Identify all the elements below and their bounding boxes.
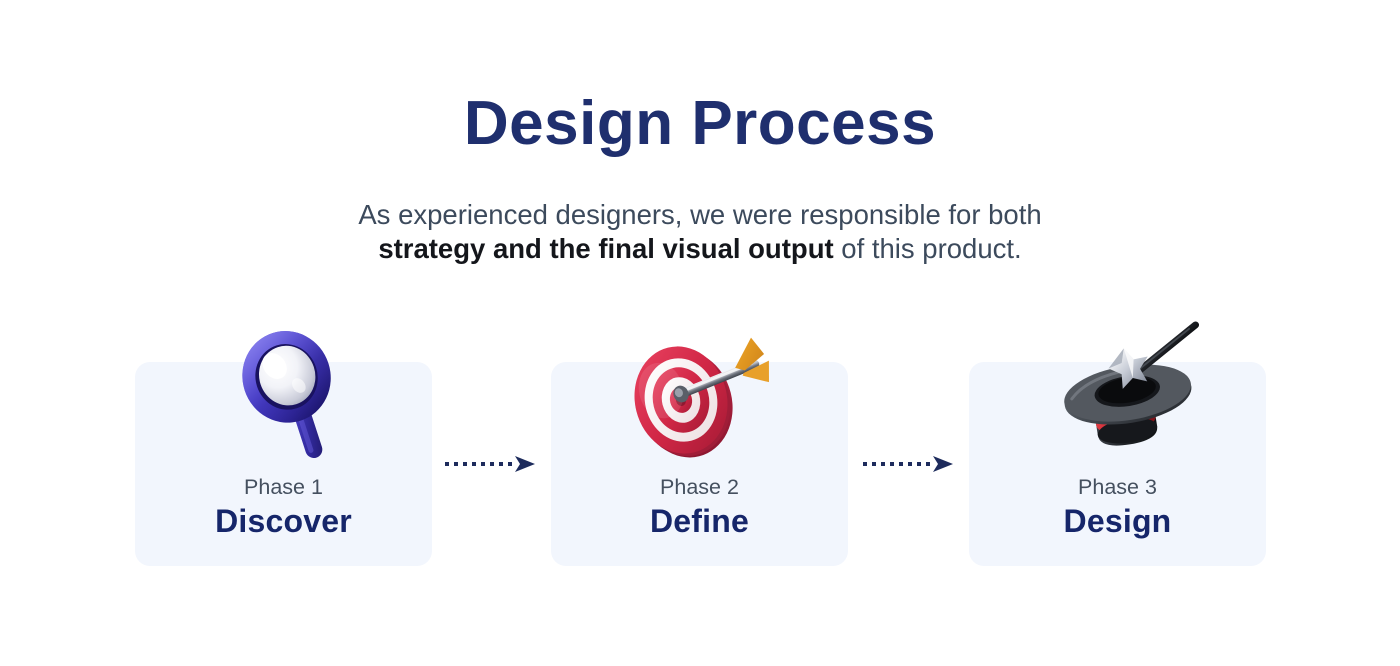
arrow-phase1-to-phase2 <box>444 455 536 473</box>
phase-card-design[interactable]: Phase 3 Design <box>969 362 1266 566</box>
phase-cards-row: Phase 1 Discover <box>135 362 1267 566</box>
phase-card-discover[interactable]: Phase 1 Discover <box>135 362 432 566</box>
phase-label: Phase 2 <box>551 473 848 501</box>
subtitle: As experienced designers, we were respon… <box>0 198 1400 266</box>
top-hat-magic-wand-3d-icon <box>1045 334 1215 459</box>
card-labels-discover: Phase 1 Discover <box>135 473 432 541</box>
magnifying-glass-3d-icon <box>230 326 350 466</box>
arrow-phase2-to-phase3 <box>862 455 954 473</box>
phase-card-define[interactable]: Phase 2 Define <box>551 362 848 566</box>
subtitle-emphasis: strategy and the final visual output <box>378 233 833 264</box>
phase-name: Discover <box>135 501 432 541</box>
card-labels-design: Phase 3 Design <box>969 473 1266 541</box>
subtitle-line-1: As experienced designers, we were respon… <box>0 198 1400 232</box>
phase-name: Define <box>551 501 848 541</box>
subtitle-line-2: strategy and the final visual output of … <box>0 232 1400 266</box>
subtitle-line-2-tail: of this product. <box>834 233 1022 264</box>
page-title: Design Process <box>0 88 1400 160</box>
card-labels-define: Phase 2 Define <box>551 473 848 541</box>
phase-name: Design <box>969 501 1266 541</box>
phase-label: Phase 3 <box>969 473 1266 501</box>
design-process-slide: Design Process As experienced designers,… <box>0 0 1400 666</box>
phase-label: Phase 1 <box>135 473 432 501</box>
dartboard-target-arrow-3d-icon <box>623 334 783 464</box>
